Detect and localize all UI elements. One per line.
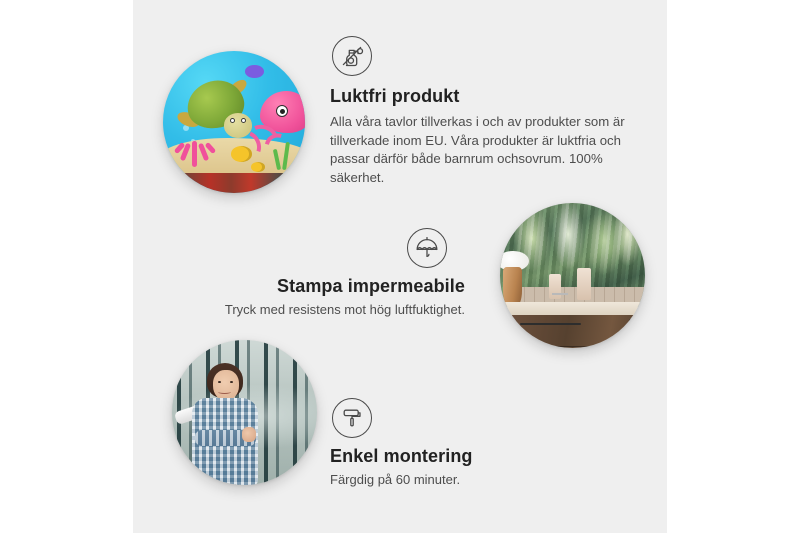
feature-body: Tryck med resistens mot hög luftfuktighe…	[180, 301, 465, 319]
underwater-scene-art	[163, 51, 305, 193]
turtle-eye	[230, 118, 235, 123]
feature-title: Stampa impermeabile	[180, 276, 465, 297]
turtle-eye	[241, 118, 246, 123]
woman-face	[213, 370, 239, 400]
woman-eye	[230, 381, 233, 383]
bathroom-scene-art	[500, 203, 645, 348]
feature-easy-assembly: Enkel montering Färgdig på 60 minuter.	[330, 398, 590, 489]
woman-hand	[242, 427, 257, 442]
woman-eye	[218, 381, 221, 383]
yellow-fish-icon	[231, 146, 252, 162]
bathroom-jar	[549, 274, 561, 299]
feature-title: Luktfri produkt	[330, 86, 635, 107]
feature-odour-free: Luktfri produkt Alla våra tavlor tillver…	[330, 36, 635, 188]
bathroom-botanical-wallpaper-circle-photo	[500, 203, 645, 348]
octopus-eye	[276, 105, 288, 117]
paint-roller-icon	[332, 398, 372, 438]
photo-bottom-strip	[163, 173, 305, 193]
yellow-fish-icon	[251, 162, 265, 172]
feature-waterproof-print: Stampa impermeabile Tryck med resistens …	[180, 228, 465, 319]
bathroom-jar	[577, 268, 592, 300]
faucet-icon	[552, 293, 568, 295]
feature-body: Färgdig på 60 minuter.	[330, 471, 590, 489]
underwater-cartoon-circle-photo	[163, 51, 305, 193]
product-feature-infographic: Luktfri produkt Alla våra tavlor tillver…	[0, 0, 800, 533]
umbrella-icon	[407, 228, 447, 268]
feature-body: Alla våra tavlor tillverkas i och av pro…	[330, 113, 635, 188]
feature-title: Enkel montering	[330, 446, 590, 467]
woman-smile	[218, 389, 231, 393]
forest-scene-art	[172, 340, 317, 485]
no-fragrance-icon	[332, 36, 372, 76]
feature-icon-wrap	[180, 228, 465, 268]
blue-fish-icon	[245, 65, 263, 78]
coral-icon	[176, 129, 216, 167]
vanity-drawer	[512, 315, 645, 347]
woman-paint-roller-forest-circle-photo	[172, 340, 317, 485]
